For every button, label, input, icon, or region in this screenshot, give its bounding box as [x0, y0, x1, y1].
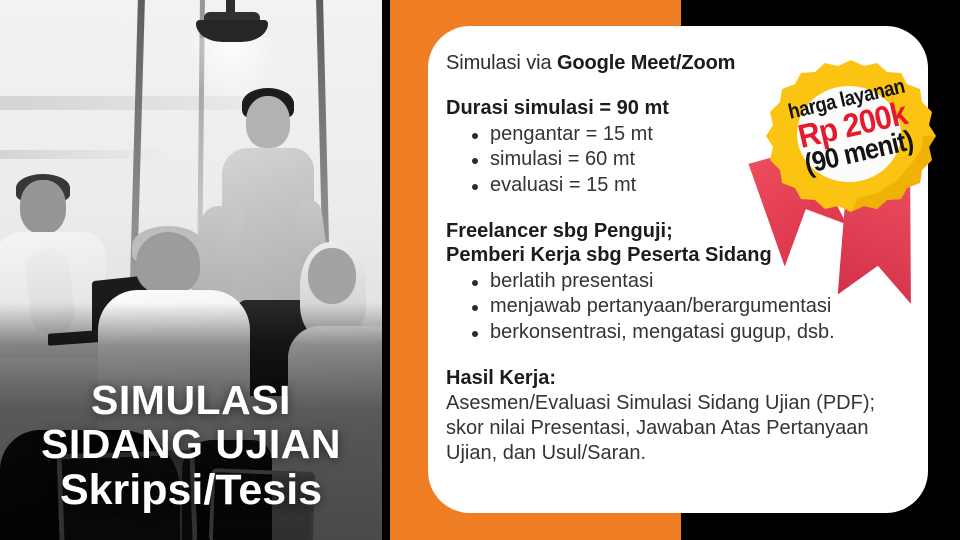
- black-divider: [382, 0, 390, 540]
- title-line-3: Skripsi/Tesis: [0, 469, 382, 512]
- photo-panel: SIMULASI SIDANG UJIAN Skripsi/Tesis: [0, 0, 382, 540]
- poster-canvas: SIMULASI SIDANG UJIAN Skripsi/Tesis Simu…: [0, 0, 960, 540]
- poster-title: SIMULASI SIDANG UJIAN Skripsi/Tesis: [0, 380, 382, 512]
- title-line-2: SIDANG UJIAN: [0, 424, 382, 465]
- intro-emphasis: Google Meet/Zoom: [557, 52, 735, 74]
- result-heading: Hasil Kerja:: [446, 367, 916, 391]
- list-item: berkonsentrasi, mengatasi gugup, dsb.: [472, 320, 916, 346]
- price-badge: harga layanan Rp 200k (90 menit): [742, 52, 960, 322]
- intro-prefix: Simulasi via: [446, 52, 557, 74]
- spacer: [446, 345, 916, 367]
- title-line-1: SIMULASI: [0, 380, 382, 421]
- result-body: Asesmen/Evaluasi Simulasi Sidang Ujian (…: [446, 391, 916, 467]
